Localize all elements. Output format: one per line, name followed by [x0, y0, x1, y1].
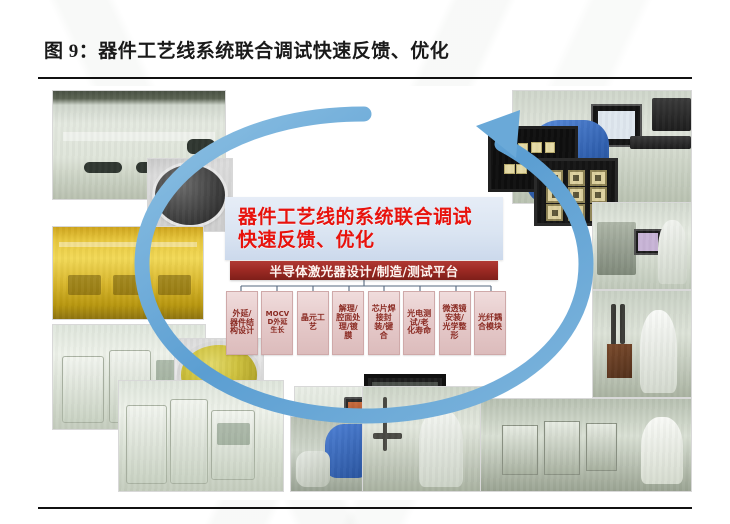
process-box-row: 外延/器件结构设计 MOCVD外延生长 晶元工艺 解理/腔面处理/镀膜 芯片焊接… [226, 291, 506, 353]
process-box-7-label: 微透镜安装/光学整形 [442, 305, 468, 341]
process-box-3[interactable]: 晶元工艺 [297, 291, 329, 355]
photo-technician-white-suit-equipment [592, 290, 692, 398]
photo-fab-equipment-bay-left [118, 380, 284, 492]
document-page: 图 9：器件工艺线系统联合调试快速反馈、优化 [0, 0, 730, 524]
photo-two-technicians-fab [362, 386, 486, 492]
divider-bottom [38, 507, 692, 509]
process-box-1-label: 外延/器件结构设计 [229, 310, 255, 337]
figure-caption: 图 9：器件工艺线系统联合调试快速反馈、优化 [44, 36, 449, 63]
figure-image: 器件工艺线的系统联合调试快速反馈、优化 半导体激光器设计/制造/测试平台 外延/… [46, 86, 694, 500]
diagram-main-title-text: 器件工艺线的系统联合调试快速反馈、优化 [238, 206, 490, 251]
divider-top [38, 77, 692, 79]
photo-fab-equipment-bay-right [480, 398, 692, 492]
process-box-5[interactable]: 芯片焊接封装/键合 [368, 291, 400, 355]
process-box-2-label: MOCVD外延生长 [264, 311, 290, 334]
process-box-3-label: 晶元工艺 [300, 314, 326, 332]
platform-bar-text: 半导体激光器设计/制造/测试平台 [270, 261, 459, 280]
process-box-8[interactable]: 光纤耦合模块 [474, 291, 506, 355]
photo-yellow-lithography-bay [52, 226, 204, 320]
process-box-4[interactable]: 解理/腔面处理/镀膜 [332, 291, 364, 355]
process-box-7[interactable]: 微透镜安装/光学整形 [439, 291, 471, 355]
process-box-4-label: 解理/腔面处理/镀膜 [335, 305, 361, 341]
platform-bar: 半导体激光器设计/制造/测试平台 [230, 261, 498, 280]
process-box-5-label: 芯片焊接封装/键合 [371, 305, 397, 341]
process-box-8-label: 光纤耦合模块 [477, 314, 503, 332]
process-box-6[interactable]: 光电测试/老化寿命 [403, 291, 435, 355]
process-box-6-label: 光电测试/老化寿命 [406, 310, 432, 337]
diagram-main-title: 器件工艺线的系统联合调试快速反馈、优化 [225, 197, 503, 260]
process-box-1[interactable]: 外延/器件结构设计 [226, 291, 258, 355]
photo-cleanroom-operator-monitor [592, 202, 692, 290]
process-box-2[interactable]: MOCVD外延生长 [261, 291, 293, 355]
photo-silicon-wafer-dark [147, 158, 233, 232]
